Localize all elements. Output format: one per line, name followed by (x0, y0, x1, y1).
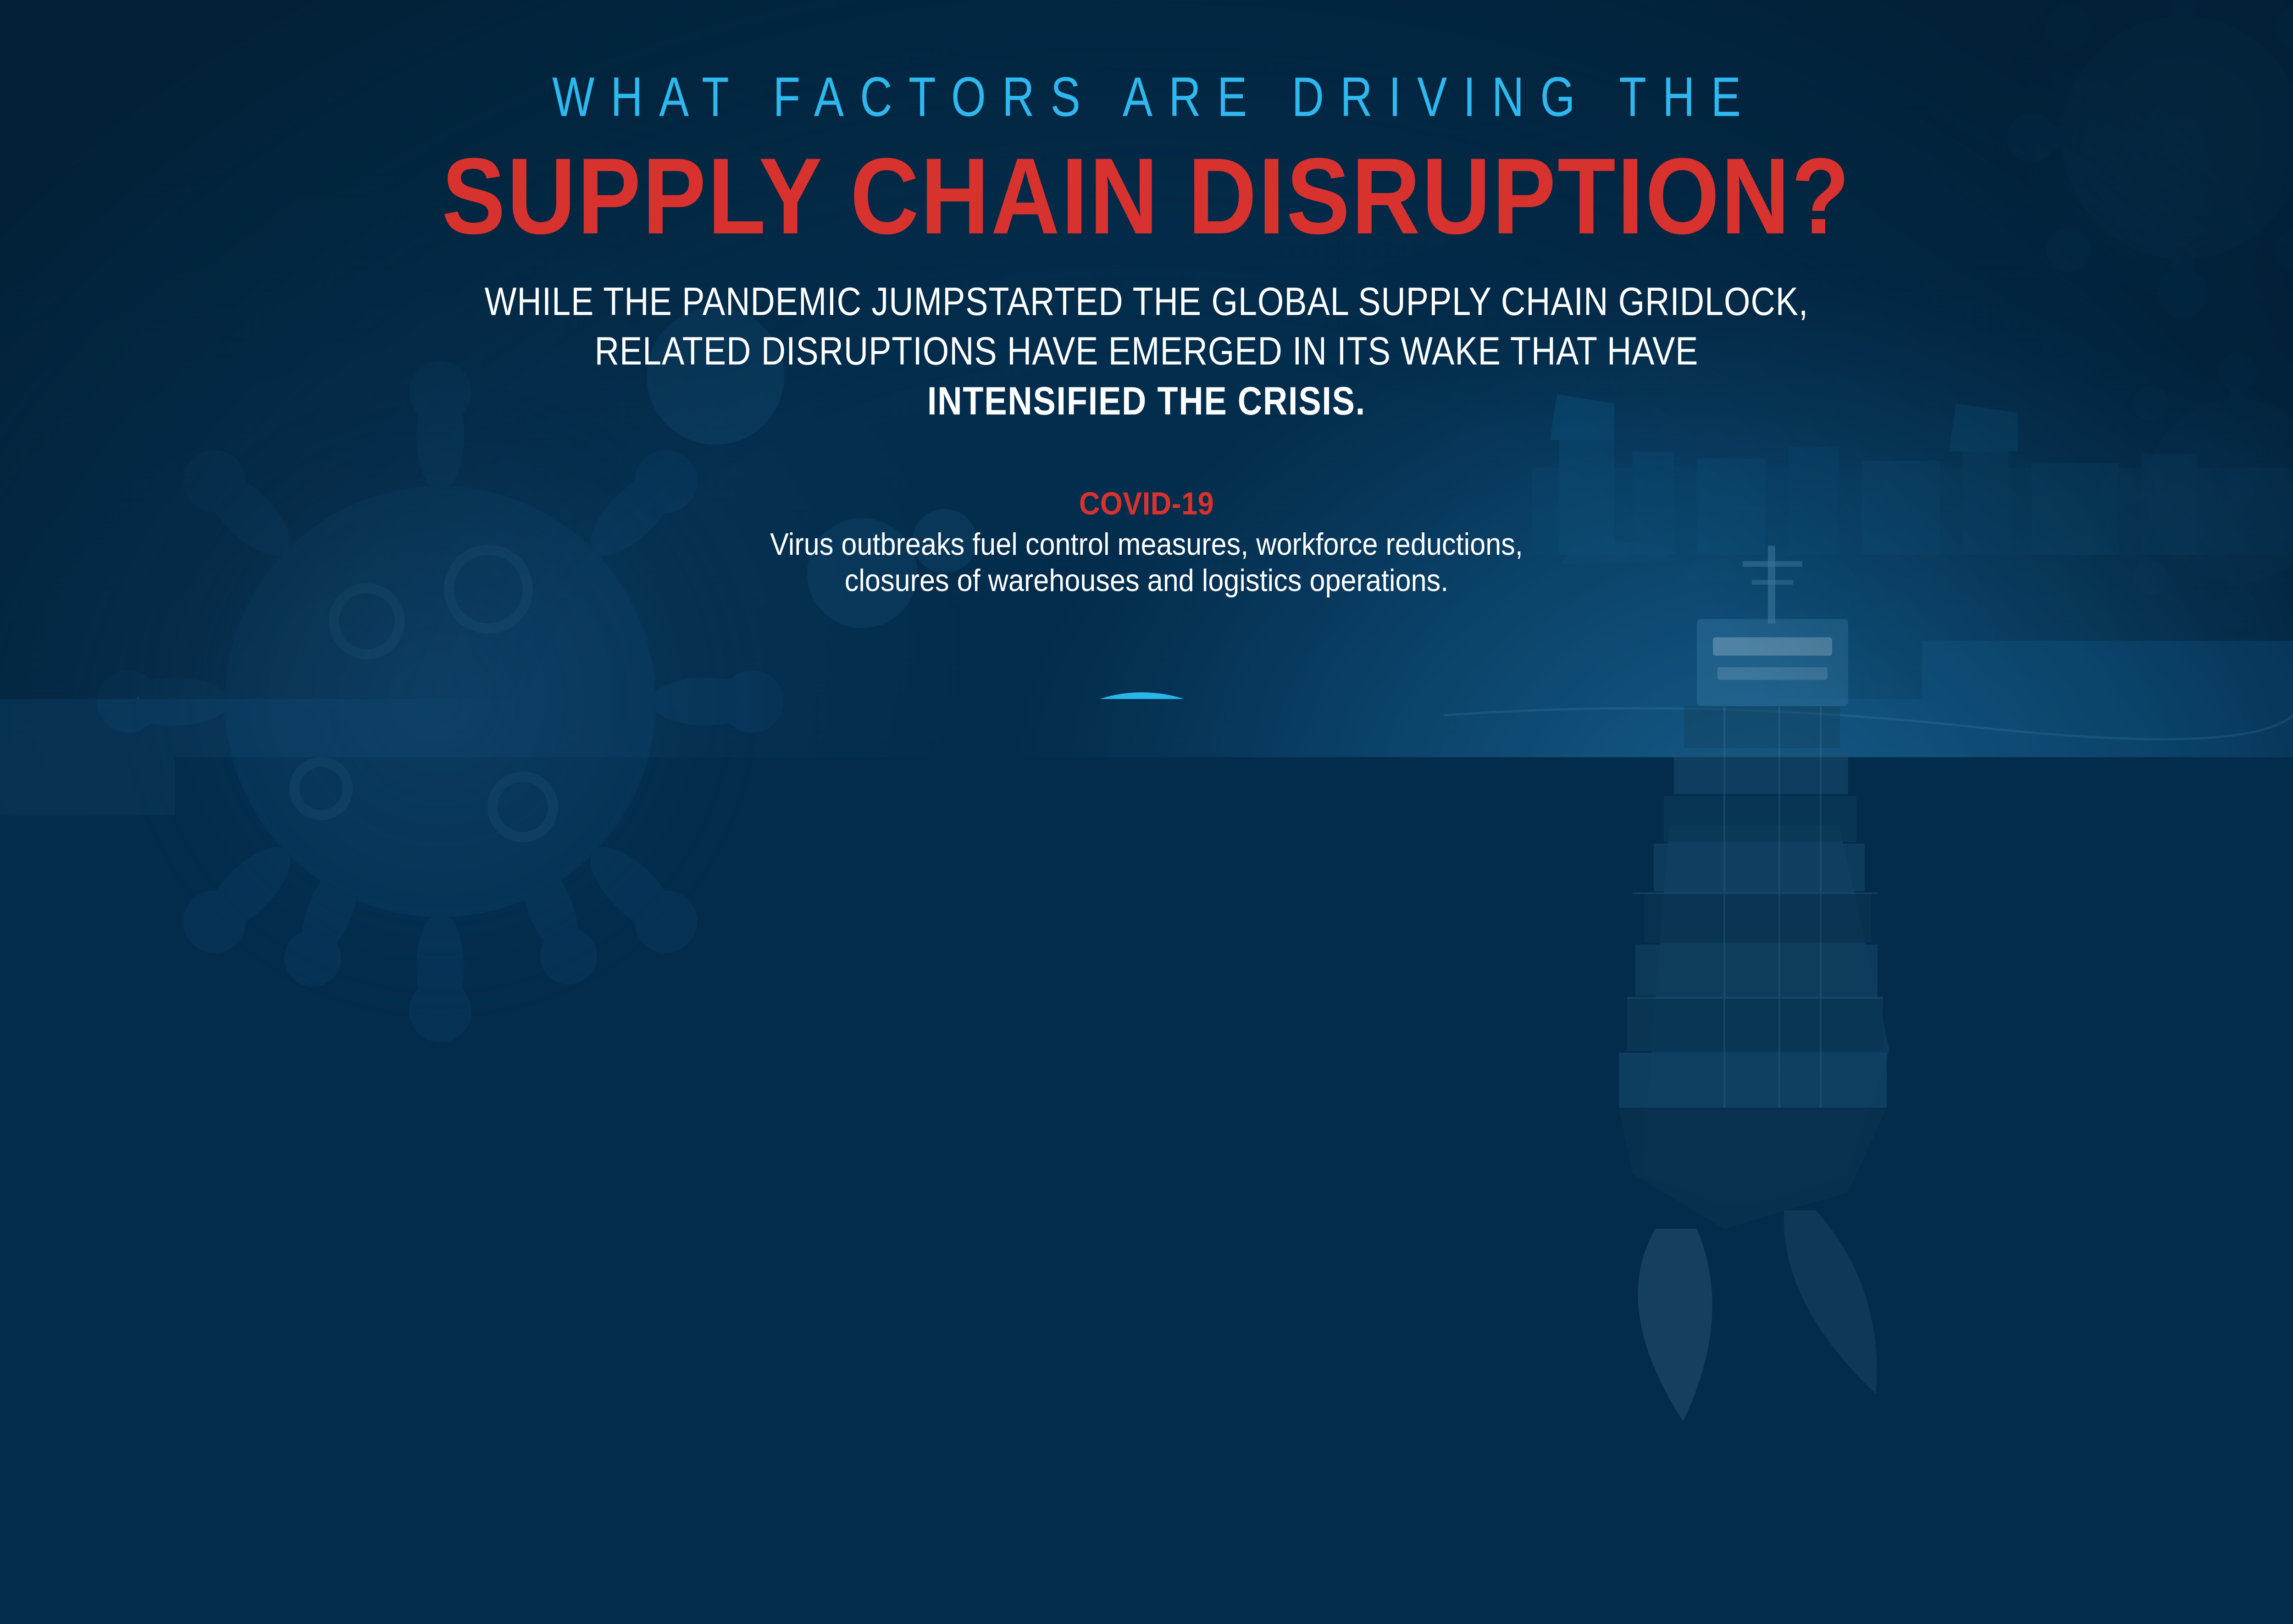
demand-title: INCREASED DEMAND (1688, 1194, 2109, 1228)
jabil-logo (1883, 1477, 2222, 1564)
connector-cyan-left-right (1051, 1323, 1233, 1350)
demand-body: With restrictions on travel, dining and … (1688, 1233, 2109, 1379)
chart-point-1 (1374, 1269, 1398, 1293)
node-covid-disc (1041, 729, 1243, 931)
covid-body: Virus outbreaks fuel control measures, w… (734, 526, 1559, 599)
labor-body-line-3: their workforces. (176, 1310, 613, 1347)
chart-point-3 (1447, 1267, 1473, 1293)
labor-body: Manufacturing and logistics both have la… (176, 1237, 613, 1347)
labor-title: LABOR SHORTAGES (176, 1198, 613, 1232)
demand-body-line-4: money on physical goods. (1688, 1342, 2109, 1379)
copyright-text: ©Jabil Inc. 2021. All Rights Reserved. (90, 1507, 394, 1530)
demand-body-line-2: dining and in-person events, (1688, 1270, 2109, 1306)
covid-title: COVID-19 (734, 487, 1559, 521)
covid-body-line-2: closures of warehouses and logistics ope… (734, 563, 1559, 599)
demand-text-block: INCREASED DEMAND With restrictions on tr… (1665, 1194, 2132, 1379)
connector-cyan-top-left (805, 949, 1003, 1132)
infographic-canvas: WHAT FACTORS ARE DRIVING THE SUPPLY CHAI… (0, 0, 2293, 1624)
demand-body-line-1: With restrictions on travel, (1688, 1233, 2109, 1270)
connector-red-top-right (1229, 917, 1399, 1226)
covid-body-line-1: Virus outbreaks fuel control measures, w… (734, 526, 1559, 563)
three-node-diagram (0, 0, 2293, 1624)
covid-text-block: COVID-19 Virus outbreaks fuel control me… (688, 487, 1605, 599)
demand-body-line-3: people spent more (1688, 1306, 2109, 1343)
connector-cyan-top-right (1280, 949, 1479, 1132)
chart-point-2 (1412, 1244, 1438, 1270)
labor-body-line-2: both have large shortages in (176, 1273, 613, 1310)
connector-red-top-left (885, 917, 1055, 1226)
labor-body-line-1: Manufacturing and logistics (176, 1237, 613, 1274)
labor-text-block: LABOR SHORTAGES Manufacturing and logist… (151, 1198, 637, 1346)
